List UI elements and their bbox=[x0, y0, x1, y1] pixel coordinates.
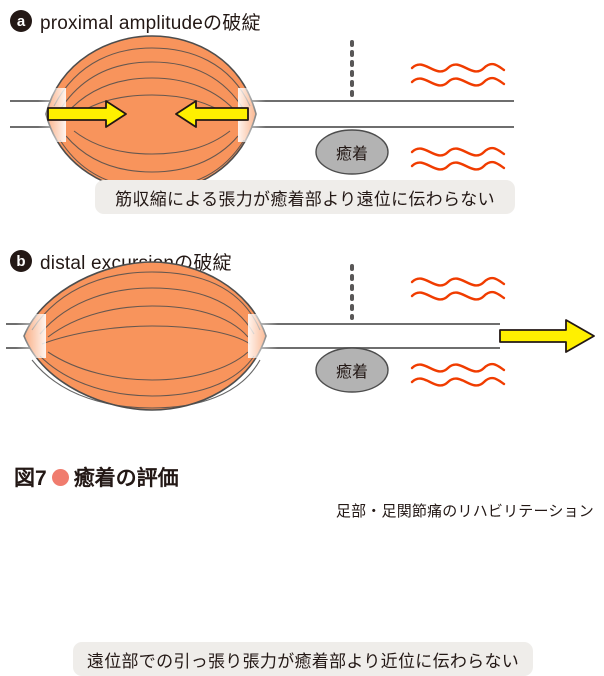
figure-bullet-dot-icon bbox=[52, 469, 69, 486]
adhesion-label-a: 癒着 bbox=[316, 138, 388, 166]
figure-title: 癒着の評価 bbox=[74, 462, 179, 492]
wave-group-a-bottom bbox=[412, 148, 504, 169]
panel-b: b distal excursionの破綻 bbox=[0, 240, 604, 455]
panel-b-caption: 遠位部での引っ張り張力が癒着部より近位に伝わらない bbox=[73, 642, 533, 676]
panel-b-illustration bbox=[0, 240, 604, 455]
figure-caption: 図7 癒着の評価 bbox=[14, 462, 179, 492]
figure-number: 図7 bbox=[14, 462, 47, 492]
wave-group-b-bottom bbox=[412, 364, 504, 385]
distal-pull-arrow bbox=[500, 320, 594, 352]
adhesion-label-b: 癒着 bbox=[316, 356, 388, 384]
panel-a-caption: 筋収縮による張力が癒着部より遠位に伝わらない bbox=[95, 180, 515, 214]
panel-a: a proximal amplitudeの破綻 bbox=[0, 0, 604, 232]
muscle-belly-b bbox=[16, 262, 278, 410]
wave-group-b-top bbox=[412, 278, 504, 299]
book-footer: 足部・足関節痛のリハビリテーション bbox=[336, 500, 594, 521]
wave-group-a-top bbox=[412, 64, 504, 85]
